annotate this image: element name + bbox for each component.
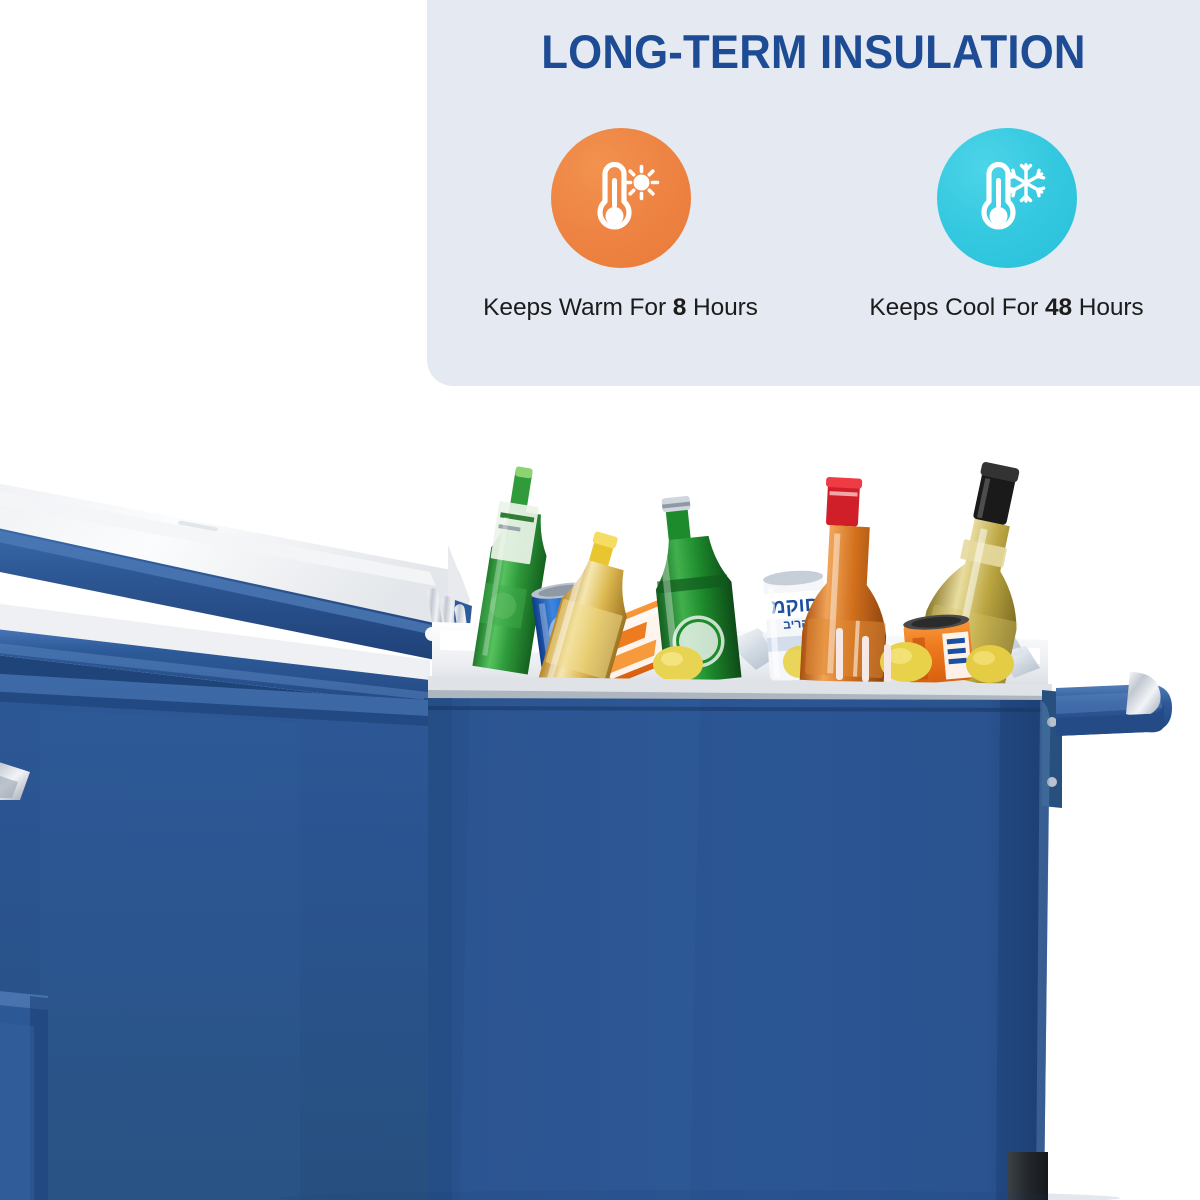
warm-badge bbox=[551, 128, 691, 268]
warm-hours-value: 8 bbox=[673, 294, 687, 321]
cooler-contents: םוקמ הריב bbox=[472, 456, 1049, 703]
insulation-info-panel: LONG-TERM INSULATION bbox=[427, 0, 1200, 386]
warm-caption-suffix: Hours bbox=[686, 294, 758, 321]
thermometer-sun-icon bbox=[579, 156, 663, 240]
lemon bbox=[966, 645, 1014, 683]
warm-caption-prefix: Keeps Warm For bbox=[483, 294, 673, 321]
cooler-body-left bbox=[0, 672, 428, 1200]
lower-shelf-tray bbox=[0, 988, 48, 1200]
cool-badge bbox=[937, 128, 1077, 268]
feature-list: Keeps Warm For 8 Hours bbox=[427, 128, 1200, 322]
cool-caption-prefix: Keeps Cool For bbox=[869, 294, 1045, 321]
feature-keeps-cool: Keeps Cool For 48 Hours bbox=[857, 128, 1157, 322]
cool-hours-value: 48 bbox=[1045, 294, 1072, 321]
warm-caption: Keeps Warm For 8 Hours bbox=[471, 294, 771, 322]
panel-title: LONG-TERM INSULATION bbox=[454, 24, 1173, 79]
cooler-body-front bbox=[424, 676, 1052, 1200]
lemon bbox=[653, 646, 703, 682]
feature-keeps-warm: Keeps Warm For 8 Hours bbox=[471, 128, 771, 322]
product-marketing-image: םוקמ הריב bbox=[0, 0, 1200, 1200]
thermometer-snowflake-icon bbox=[965, 156, 1049, 240]
cool-caption-suffix: Hours bbox=[1072, 294, 1144, 321]
side-handle-right bbox=[1042, 672, 1172, 808]
cool-caption: Keeps Cool For 48 Hours bbox=[857, 294, 1157, 322]
